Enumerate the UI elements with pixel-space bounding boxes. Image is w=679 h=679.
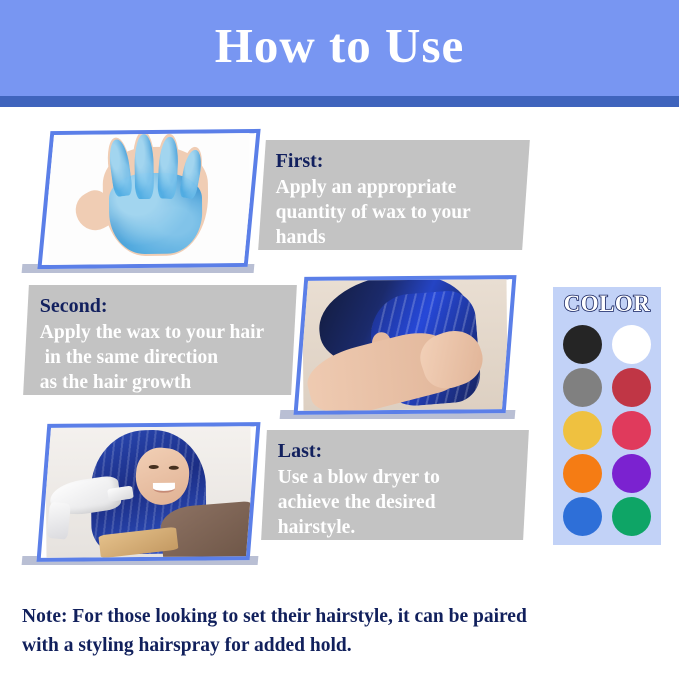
header-divider (0, 96, 679, 107)
caption-second: Second: Apply the wax to your hair in th… (23, 285, 297, 395)
step-text-line: Use a blow dryer to (278, 465, 526, 490)
art-applying-wax-to-hair (302, 279, 507, 411)
color-swatch-green[interactable] (612, 497, 651, 536)
step-text-line: quantity of wax to your (276, 200, 526, 225)
step-text-line: Apply the wax to your hair (40, 320, 294, 345)
step-text-line: achieve the desired (278, 490, 526, 515)
color-panel-title: COLOR (553, 290, 661, 318)
color-swatch-blue[interactable] (563, 497, 602, 536)
step-text-line: in the same direction (40, 345, 294, 370)
caption-first: First: Apply an appropriate quantity of … (258, 140, 530, 250)
step-text-line: as the hair growth (40, 370, 294, 395)
color-swatch-black[interactable] (563, 325, 602, 364)
blue-wax-overlay (134, 134, 154, 199)
color-swatch-pink[interactable] (612, 411, 651, 450)
eye-shape (169, 466, 179, 470)
color-swatch-grid (561, 323, 653, 539)
photo-blow-drying-blue-hair (36, 422, 260, 562)
step-text-line: hands (276, 225, 526, 250)
step-text-line: Apply an appropriate (276, 175, 526, 200)
step-text-line: hairstyle. (278, 515, 526, 540)
page-title: How to Use (0, 16, 679, 76)
color-swatch-purple[interactable] (612, 454, 651, 493)
note-line: Note: For those looking to set their hai… (22, 602, 652, 631)
blow-dryer-handle (47, 502, 71, 540)
art-blow-drying-blue-hair (45, 426, 251, 558)
color-swatch-yellow[interactable] (563, 411, 602, 450)
smile-shape (153, 483, 176, 493)
color-swatch-red[interactable] (612, 368, 651, 407)
note-line: with a styling hairspray for added hold. (22, 631, 652, 660)
step-label-first: First: (276, 149, 526, 174)
photo-hand-with-blue-wax (37, 129, 260, 269)
how-to-use-infographic: How to Use First: Apply an appropriate q… (0, 0, 679, 679)
eye-shape (148, 465, 158, 469)
color-panel: COLOR (553, 287, 661, 545)
step-label-second: Second: (40, 294, 294, 319)
art-hand-with-blue-wax (47, 133, 251, 265)
note-text: Note: For those looking to set their hai… (22, 602, 652, 660)
color-swatch-orange[interactable] (563, 454, 602, 493)
step-label-last: Last: (278, 439, 526, 464)
caption-last: Last: Use a blow dryer to achieve the de… (261, 430, 529, 540)
color-swatch-gray[interactable] (563, 368, 602, 407)
photo-applying-wax-to-hair (293, 275, 516, 415)
color-swatch-white[interactable] (612, 325, 651, 364)
